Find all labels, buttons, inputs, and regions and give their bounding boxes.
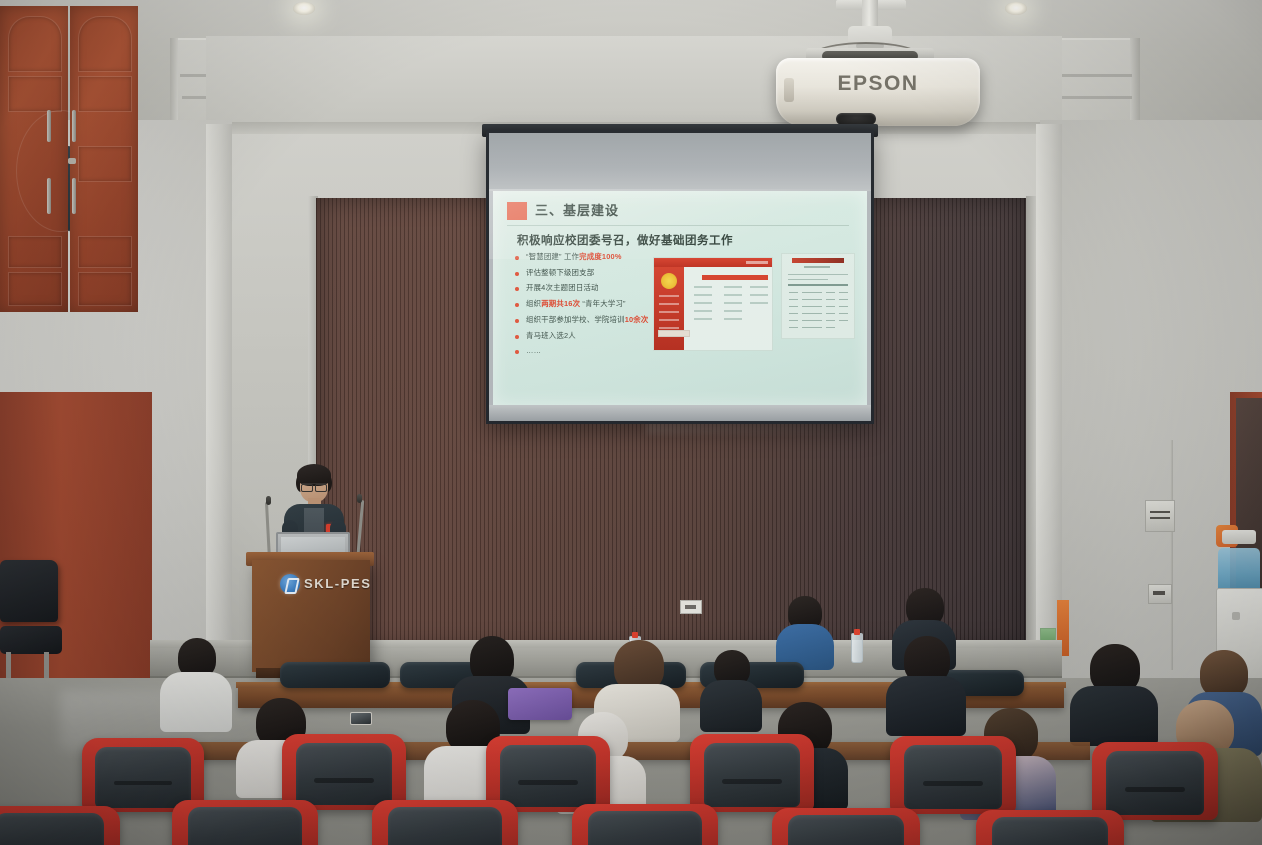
- seat-pad: [588, 811, 702, 845]
- document-cell: [789, 313, 798, 314]
- portal-header-bar: [654, 258, 772, 267]
- auditorium-scene: EPSON 三、基层建设 积极响应校团委号召，做好基础团务工作 “智慧团建” 工…: [0, 0, 1262, 845]
- document-cell: [789, 299, 798, 300]
- pilaster-right: [1036, 124, 1062, 680]
- door-handle-right-lower[interactable]: [72, 178, 76, 214]
- office-chair-seat: [0, 626, 62, 654]
- person-body: [160, 672, 232, 732]
- dispenser-cap: [1222, 530, 1256, 544]
- auditorium-seat[interactable]: [172, 800, 318, 845]
- door-handle-left-lower[interactable]: [47, 178, 51, 214]
- portal-cell: [724, 318, 742, 320]
- document-table-header: [788, 284, 848, 286]
- bullet-text: ……: [526, 347, 541, 356]
- seat-pad: [704, 743, 801, 807]
- person-head: [1200, 650, 1248, 698]
- document-title-bar: [792, 258, 844, 263]
- door-right-leaf[interactable]: [70, 6, 138, 312]
- bullet-text: 青马班入选2人: [526, 332, 576, 341]
- door-panel: [8, 272, 62, 306]
- door-handle-right[interactable]: [72, 110, 76, 142]
- panel-slit: [1150, 511, 1170, 513]
- presentation-slide: 三、基层建设 积极响应校团委号召，做好基础团务工作 “智慧团建” 工作完成度10…: [493, 191, 867, 405]
- auditorium-seat[interactable]: [572, 804, 718, 845]
- seat-slot: [314, 778, 374, 783]
- seat-slot: [923, 781, 983, 786]
- document-cell: [826, 320, 835, 321]
- dispenser-tap-icon[interactable]: [1232, 612, 1240, 620]
- list-item: 评估整顿下级团支部: [515, 269, 675, 278]
- panel-slit: [1150, 517, 1170, 519]
- ceiling-light: [293, 2, 315, 15]
- bullet-text: “智慧团建” 工作完成度100%: [526, 253, 622, 262]
- slide-subtitle: 积极响应校团委号召，做好基础团务工作: [517, 232, 733, 248]
- water-bottle: [851, 633, 863, 663]
- portal-cell: [694, 302, 712, 304]
- portal-nav-item: [659, 311, 679, 313]
- list-item: “智慧团建” 工作完成度100%: [515, 253, 675, 262]
- pilaster-left: [206, 124, 232, 680]
- seat-pad: [904, 745, 1002, 809]
- door-handle-left[interactable]: [47, 110, 51, 142]
- stage-panel-frame-right: [1026, 196, 1036, 652]
- seat-slot: [114, 781, 173, 785]
- audience-person: [160, 638, 232, 730]
- door-panel: [78, 236, 132, 268]
- bullet-dot-icon: [515, 287, 519, 291]
- auditorium-seat[interactable]: [1092, 742, 1218, 820]
- seat-pad: [388, 807, 502, 845]
- seat-pad: [296, 743, 393, 805]
- wall-conduit: [1170, 440, 1173, 670]
- seat-pad: [992, 817, 1107, 845]
- portal-emblem-icon: [661, 273, 677, 289]
- bench-seatback: [280, 662, 390, 688]
- list-item: 组织干部参加学校、学院培训10余次: [515, 316, 675, 325]
- bullet-text: 评估整顿下级团支部: [526, 269, 594, 278]
- office-chair-back: [0, 560, 58, 622]
- document-table-screenshot: [781, 253, 855, 339]
- portal-cell: [724, 286, 742, 288]
- document-cell: [802, 320, 822, 321]
- bullet-dot-icon: [515, 303, 519, 307]
- door-left-leaf[interactable]: [0, 6, 68, 312]
- audience-person: [1070, 644, 1158, 744]
- portal-cell: [750, 286, 768, 288]
- portal-nav-item: [659, 295, 679, 297]
- projection-screen: 三、基层建设 积极响应校团委号召，做好基础团务工作 “智慧团建” 工作完成度10…: [486, 130, 874, 424]
- bullet-dot-icon: [515, 335, 519, 339]
- portal-cell: [694, 318, 712, 320]
- projector: EPSON: [776, 58, 980, 126]
- seat-pad: [0, 813, 104, 845]
- bullet-dot-icon: [515, 350, 519, 354]
- seat-pad: [1106, 751, 1204, 815]
- portal-cell: [694, 286, 712, 288]
- web-portal-screenshot: [653, 257, 773, 351]
- skl-pes-logo: [280, 574, 300, 594]
- screen-blank-area-top: [489, 133, 871, 191]
- auditorium-seat[interactable]: [372, 800, 518, 845]
- auditorium-seat[interactable]: [772, 808, 920, 845]
- document-cell: [802, 306, 822, 307]
- seat-pad: [188, 807, 302, 845]
- portal-nav-item: [659, 327, 679, 329]
- document-line: [788, 279, 828, 280]
- seat-pad: [500, 745, 597, 807]
- portal-cell: [750, 294, 768, 296]
- wall-outlet: [680, 600, 702, 614]
- switch-slit: [1153, 591, 1165, 595]
- document-cell: [802, 292, 822, 293]
- slide-section-title: 三、基层建设: [535, 200, 619, 219]
- audience-person: [700, 650, 762, 730]
- bullet-dot-icon: [515, 272, 519, 276]
- document-line: [788, 274, 848, 275]
- list-item: 开展4次主题团日活动: [515, 284, 675, 293]
- document-subtitle: [804, 266, 830, 268]
- audience-person: [776, 596, 834, 666]
- bullet-dot-icon: [515, 319, 519, 323]
- document-cell: [839, 306, 848, 307]
- document-cell: [789, 320, 798, 321]
- door-panel: [78, 272, 132, 306]
- podium-label: SKL-PES: [304, 576, 372, 591]
- office-chair: [0, 560, 64, 688]
- portal-cell: [694, 294, 712, 296]
- auditorium-seat[interactable]: [690, 734, 814, 812]
- document-cell: [826, 292, 835, 293]
- slide-bullet-list: “智慧团建” 工作完成度100% 评估整顿下级团支部 开展4次主题团日活动 组织…: [515, 253, 675, 363]
- portal-nav-item: [659, 303, 679, 305]
- bullet-text: 开展4次主题团日活动: [526, 284, 599, 293]
- phone-on-desk: [350, 712, 372, 725]
- portal-cell: [724, 302, 742, 304]
- bullet-text: 组织两期共16次 “青年大学习”: [526, 300, 626, 309]
- portal-sidebar: [654, 267, 684, 350]
- list-item: 组织两期共16次 “青年大学习”: [515, 300, 675, 309]
- document-cell: [826, 299, 835, 300]
- auditorium-seat[interactable]: [282, 734, 406, 810]
- door-panel: [8, 16, 62, 72]
- portal-highlight-row: [702, 275, 768, 280]
- seat-slot: [1125, 787, 1185, 792]
- document-cell: [802, 313, 822, 314]
- ceiling-light: [1005, 2, 1027, 15]
- auditorium-seat[interactable]: [0, 806, 120, 845]
- document-cell: [826, 327, 835, 328]
- door-panel: [78, 76, 132, 112]
- person-body: [700, 680, 762, 732]
- document-cell: [839, 292, 848, 293]
- list-item: 青马班入选2人: [515, 332, 675, 341]
- auditorium-seat[interactable]: [976, 810, 1124, 845]
- wall-control-panel[interactable]: [1145, 500, 1175, 532]
- door-panel: [8, 76, 62, 112]
- person-body: [886, 676, 966, 736]
- door-panel: [8, 236, 62, 268]
- seat-slot: [722, 779, 782, 784]
- microphone-head-right: [357, 494, 362, 503]
- seat-pad: [95, 747, 190, 808]
- document-cell: [802, 327, 822, 328]
- projector-brand-label: EPSON: [776, 72, 980, 96]
- document-cell: [789, 306, 798, 307]
- document-cell: [826, 306, 835, 307]
- door-panel: [78, 16, 132, 72]
- document-cell: [789, 292, 798, 293]
- portal-cell: [694, 310, 712, 312]
- portal-cell: [724, 294, 742, 296]
- door-lock-icon: [68, 158, 76, 164]
- glasses-icon: [301, 483, 327, 490]
- seat-pad: [788, 815, 903, 845]
- list-item: ……: [515, 347, 675, 356]
- screen-surface: 三、基层建设 积极响应校团委号召，做好基础团务工作 “智慧团建” 工作完成度10…: [489, 133, 871, 421]
- document-cell: [839, 313, 848, 314]
- portal-button: [658, 330, 690, 337]
- seat-slot: [518, 780, 578, 785]
- bullet-dot-icon: [515, 256, 519, 260]
- portal-cell: [750, 302, 768, 304]
- bullet-text: 组织干部参加学校、学院培训10余次: [526, 316, 649, 325]
- document-cell: [826, 313, 835, 314]
- document-cell: [789, 327, 798, 328]
- document-cell: [839, 320, 848, 321]
- wall-switch[interactable]: [1148, 584, 1172, 604]
- portal-cell: [724, 310, 742, 312]
- slide-accent-block: [507, 202, 527, 220]
- person-body: [1070, 686, 1158, 746]
- portal-nav-item: [659, 319, 679, 321]
- door-panel: [78, 146, 132, 182]
- slide-divider: [507, 225, 849, 226]
- screen-blank-area-bottom: [489, 405, 871, 421]
- document-cell: [839, 299, 848, 300]
- audience-person: [886, 636, 966, 734]
- microphone-head-left: [266, 496, 271, 505]
- auditorium-seat[interactable]: [890, 736, 1016, 814]
- document-cell: [802, 299, 822, 300]
